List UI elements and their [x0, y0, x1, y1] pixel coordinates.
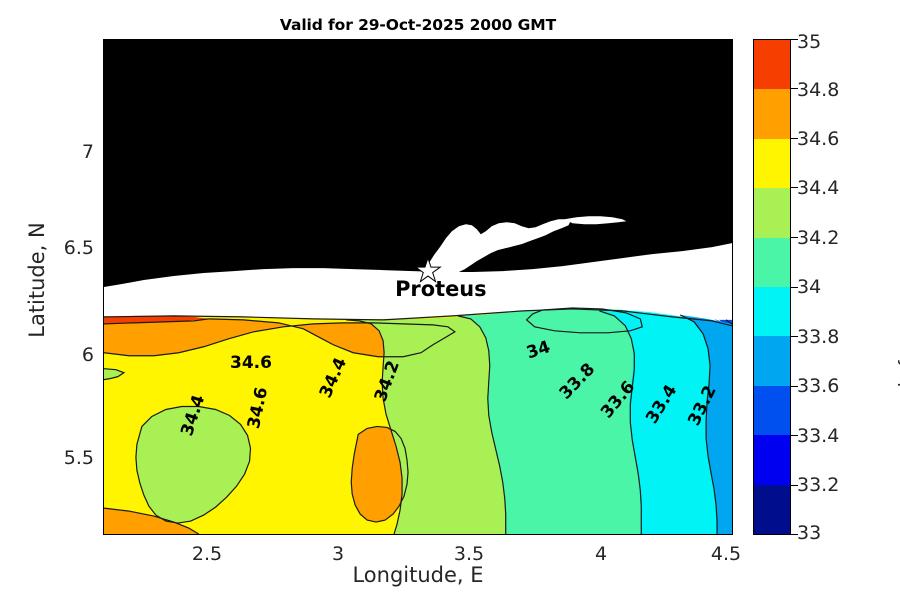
xtick-label: 3: [332, 543, 344, 565]
colorbar-tick-label: 33.6: [797, 375, 839, 397]
figure-root: Valid for 29-Oct-2025 2000 GMT: [0, 0, 900, 600]
colorbar-band: [754, 336, 790, 385]
colorbar-tick-label: 34.8: [797, 79, 839, 101]
colorbar-band: [754, 386, 790, 435]
ytick-label: 6: [48, 344, 94, 366]
xtick-label: 4: [595, 543, 607, 565]
colorbar-tick-label: 33: [797, 522, 821, 544]
page-title: Valid for 29-Oct-2025 2000 GMT: [103, 16, 733, 34]
xtick-label: 3.5: [454, 543, 484, 565]
salinity-contour-map: Proteus: [104, 40, 732, 534]
xtick-label: 2.5: [192, 543, 222, 565]
ytick-label: 6.5: [48, 237, 94, 259]
colorbar-band: [754, 485, 790, 534]
colorbar-band: [754, 287, 790, 336]
colorbar[interactable]: [753, 39, 791, 535]
map-axes: Proteus: [103, 39, 733, 535]
x-axis-label: Longitude, E: [103, 563, 733, 587]
landmass-polygon: [104, 40, 732, 287]
colorbar-band: [754, 139, 790, 188]
colorbar-tick-label: 34: [797, 276, 821, 298]
colorbar-band: [754, 40, 790, 89]
ytick-label: 7: [48, 141, 94, 163]
colorbar-band: [754, 238, 790, 287]
colorbar-tick-label: 35: [797, 31, 821, 53]
site-label-proteus: Proteus: [395, 277, 487, 301]
colorbar-tick-label: 33.2: [797, 474, 839, 496]
y-axis-label: Latitude, N: [25, 180, 49, 380]
colorbar-tick-label: 33.4: [797, 425, 839, 447]
colorbar-tick-label: 34.4: [797, 177, 839, 199]
ytick-label: 5.5: [48, 447, 94, 469]
colorbar-tick-label: 34.2: [797, 227, 839, 249]
colorbar-band: [754, 89, 790, 138]
colorbar-tick-label: 34.6: [797, 128, 839, 150]
colorbar-band: [754, 435, 790, 484]
colorbar-tick-label: 33.8: [797, 326, 839, 348]
colorbar-band: [754, 188, 790, 237]
xtick-label: 4.5: [711, 543, 741, 565]
